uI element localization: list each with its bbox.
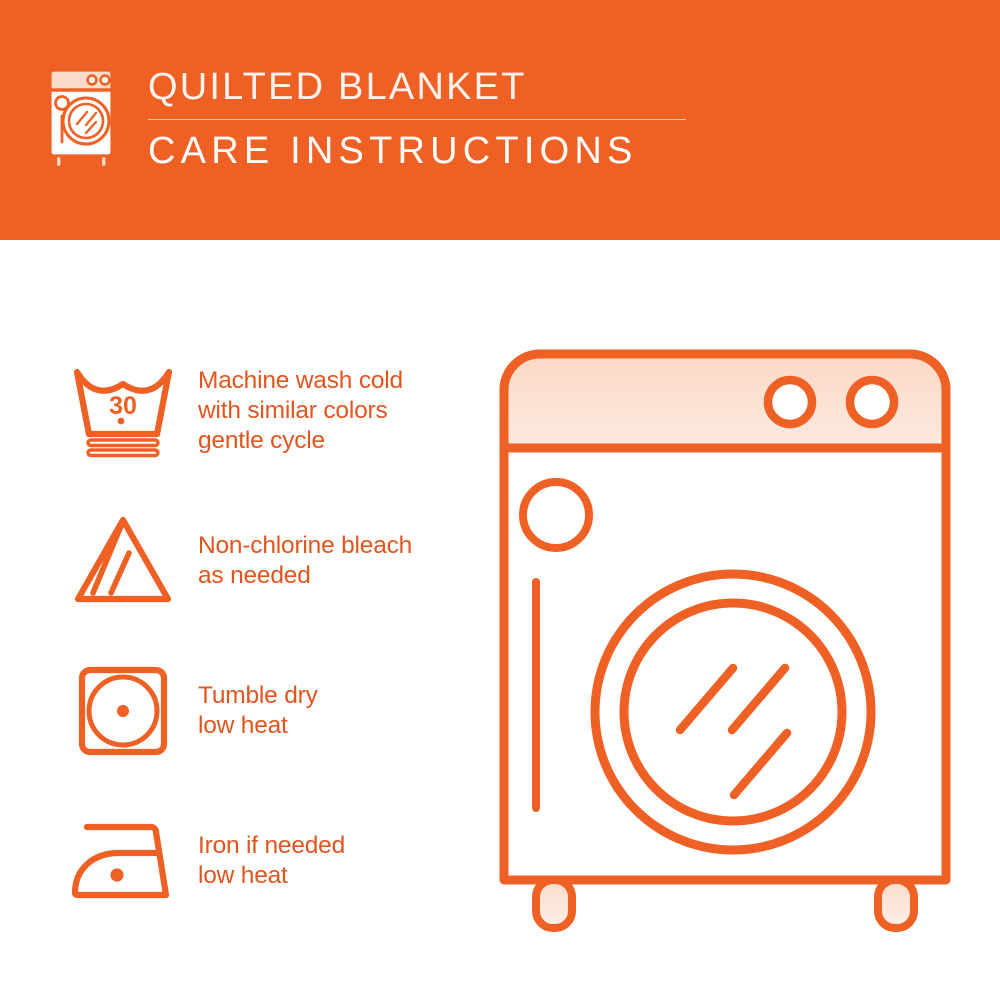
care-text-line: Tumble dry xyxy=(198,681,318,711)
header-content: QUILTED BLANKET CARE INSTRUCTIONS xyxy=(44,62,686,174)
care-row-machine-wash: 30 Machine wash cold with similar colors… xyxy=(48,336,478,486)
knob-right[interactable] xyxy=(850,380,894,424)
non-chlorine-bleach-triangle-icon xyxy=(71,513,175,609)
care-text-tumble-dry: Tumble dry low heat xyxy=(198,681,318,741)
care-icon-cell: 30 xyxy=(48,362,198,460)
care-text-line: Iron if needed xyxy=(198,831,345,861)
page-title: QUILTED BLANKET xyxy=(148,64,686,110)
care-instructions-page: QUILTED BLANKET CARE INSTRUCTIONS 30 xyxy=(0,0,1000,1000)
washing-machine-icon xyxy=(44,62,126,174)
care-text-line: Machine wash cold xyxy=(198,366,403,396)
care-icon-cell xyxy=(48,817,198,905)
leg-right xyxy=(878,880,914,928)
care-row-tumble-dry: Tumble dry low heat xyxy=(48,636,478,786)
care-icon-cell xyxy=(48,513,198,609)
wash-temperature-label: 30 xyxy=(109,392,137,420)
care-text-line: Non-chlorine bleach xyxy=(198,531,412,561)
leg-left xyxy=(536,880,572,928)
care-text-line: low heat xyxy=(198,711,318,741)
iron-low-heat-icon xyxy=(67,817,179,905)
title-divider xyxy=(148,119,686,120)
header-title-group: QUILTED BLANKET CARE INSTRUCTIONS xyxy=(148,62,686,174)
care-text-line: gentle cycle xyxy=(198,426,403,456)
care-text-machine-wash: Machine wash cold with similar colors ge… xyxy=(198,366,403,456)
care-row-bleach: Non-chlorine bleach as needed xyxy=(48,486,478,636)
page-subtitle: CARE INSTRUCTIONS xyxy=(148,128,686,174)
front-load-washing-machine-illustration xyxy=(480,330,970,950)
care-icon-cell xyxy=(48,663,198,759)
care-row-iron: Iron if needed low heat xyxy=(48,786,478,936)
wash-tub-30-gentle-icon: 30 xyxy=(69,362,177,460)
care-text-iron: Iron if needed low heat xyxy=(198,831,345,891)
care-text-line: with similar colors xyxy=(198,396,403,426)
care-text-line: low heat xyxy=(198,861,345,891)
care-text-bleach: Non-chlorine bleach as needed xyxy=(198,531,412,591)
care-instruction-list: 30 Machine wash cold with similar colors… xyxy=(48,336,478,936)
care-text-line: as needed xyxy=(198,561,412,591)
drum-door-inner-ring[interactable] xyxy=(624,603,842,821)
tumble-dry-low-heat-icon xyxy=(75,663,171,759)
knob-left[interactable] xyxy=(768,380,812,424)
detergent-dispenser-circle[interactable] xyxy=(523,482,589,548)
header-band: QUILTED BLANKET CARE INSTRUCTIONS xyxy=(0,0,1000,240)
